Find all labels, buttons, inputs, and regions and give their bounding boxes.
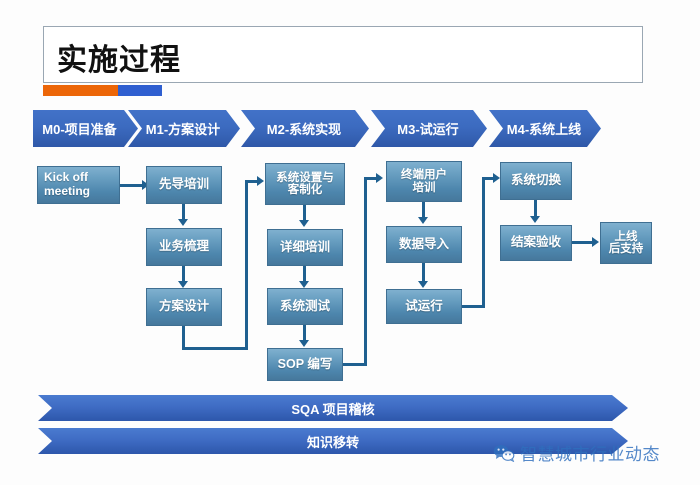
process-box-label: 系统设置与客制化 xyxy=(276,172,334,196)
process-box-xitong-shezhi-kezhihua[interactable]: 系统设置与客制化 xyxy=(265,163,345,205)
process-box-fangan-sheji[interactable]: 方案设计 xyxy=(146,288,222,326)
process-box-sop-bianxie[interactable]: SOP 编写 xyxy=(267,348,343,381)
milestone-chevron-m0[interactable]: M0-项目准备 xyxy=(33,110,138,147)
accent-bar-blue xyxy=(118,85,162,96)
process-box-label: 业务梳理 xyxy=(159,240,209,253)
connector-fangan-up xyxy=(245,180,248,350)
banner-label: SQA 项目稽核 xyxy=(291,399,374,418)
page-title: 实施过程 xyxy=(57,35,181,79)
process-box-label: 结案验收 xyxy=(511,236,561,249)
process-box-label: 方案设计 xyxy=(159,300,209,313)
milestone-chevron-m1[interactable]: M1-方案设计 xyxy=(128,110,240,147)
slide-canvas: 实施过程 M0-项目准备 M1-方案设计 M2-系统实现 M3-试运行 M4-系… xyxy=(0,0,700,485)
arrow-head-icon xyxy=(257,176,264,186)
process-box-label: 试运行 xyxy=(405,300,443,313)
connector-fangan-right xyxy=(182,347,248,350)
process-box-label: 先导培训 xyxy=(159,178,209,191)
milestone-chevron-m2[interactable]: M2-系统实现 xyxy=(241,110,369,147)
process-box-xiandao-peixun[interactable]: 先导培训 xyxy=(146,166,222,204)
arrow-head-icon xyxy=(299,220,309,227)
process-box-xitong-ceshi[interactable]: 系统测试 xyxy=(267,288,343,325)
milestone-label: M1-方案设计 xyxy=(146,119,220,138)
process-box-kick-off-meeting[interactable]: Kick offmeeting xyxy=(37,166,120,204)
process-box-xiangxi-peixun[interactable]: 详细培训 xyxy=(267,229,343,266)
accent-bar-orange xyxy=(43,85,118,96)
process-box-shi-yunxing[interactable]: 试运行 xyxy=(386,289,462,324)
connector-shuju-to-shiyunxing xyxy=(422,263,425,283)
arrow-head-icon xyxy=(418,281,428,288)
process-box-label: 系统测试 xyxy=(280,300,330,313)
process-box-yewu-shuli[interactable]: 业务梳理 xyxy=(146,228,222,266)
process-box-label: 终端用户培训 xyxy=(401,169,447,193)
process-box-jiean-yanshou[interactable]: 结案验收 xyxy=(500,225,572,261)
watermark: 智慧城市行业动态 xyxy=(493,440,660,465)
arrow-head-icon xyxy=(418,217,428,224)
process-box-label: 数据导入 xyxy=(399,238,449,251)
banner-label: 知识移转 xyxy=(307,432,359,451)
process-box-xitong-qiehuan[interactable]: 系统切换 xyxy=(500,162,572,200)
connector-sop-up xyxy=(364,177,367,366)
watermark-text: 智慧城市行业动态 xyxy=(520,440,660,465)
milestone-label: M0-项目准备 xyxy=(42,119,116,138)
process-box-label: 上线后支持 xyxy=(609,231,644,255)
arrow-head-icon xyxy=(376,173,383,183)
connector-shiyunxing-right xyxy=(462,305,484,308)
arrow-head-icon xyxy=(299,340,309,347)
banner-sqa-audit[interactable]: SQA 项目稽核 xyxy=(38,395,628,421)
arrow-head-icon xyxy=(493,173,500,183)
arrow-head-icon xyxy=(178,219,188,226)
process-box-label: 系统切换 xyxy=(511,174,561,187)
process-box-label: 详细培训 xyxy=(280,241,330,254)
arrow-head-icon xyxy=(178,281,188,288)
milestone-label: M4-系统上线 xyxy=(507,119,581,138)
wechat-icon xyxy=(493,444,515,462)
arrow-head-icon xyxy=(592,237,599,247)
process-box-zhongduan-yonghu-peixun[interactable]: 终端用户培训 xyxy=(386,161,462,202)
connector-jiean-to-shangxian xyxy=(572,241,594,244)
connector-shiyunxing-up xyxy=(482,177,485,308)
process-box-shuju-daoru[interactable]: 数据导入 xyxy=(386,226,462,263)
process-box-shangxian-hou-zhichi[interactable]: 上线后支持 xyxy=(600,222,652,264)
arrow-head-icon xyxy=(530,216,540,223)
title-box: 实施过程 xyxy=(43,26,643,83)
connector-kickoff-to-xiandao xyxy=(120,184,144,187)
milestone-chevron-m3[interactable]: M3-试运行 xyxy=(371,110,487,147)
process-box-label: Kick offmeeting xyxy=(44,171,90,199)
process-box-label: SOP 编写 xyxy=(278,358,333,371)
milestone-label: M3-试运行 xyxy=(397,119,458,138)
arrow-head-icon xyxy=(299,281,309,288)
milestone-label: M2-系统实现 xyxy=(267,119,341,138)
milestone-chevron-m4[interactable]: M4-系统上线 xyxy=(489,110,601,147)
